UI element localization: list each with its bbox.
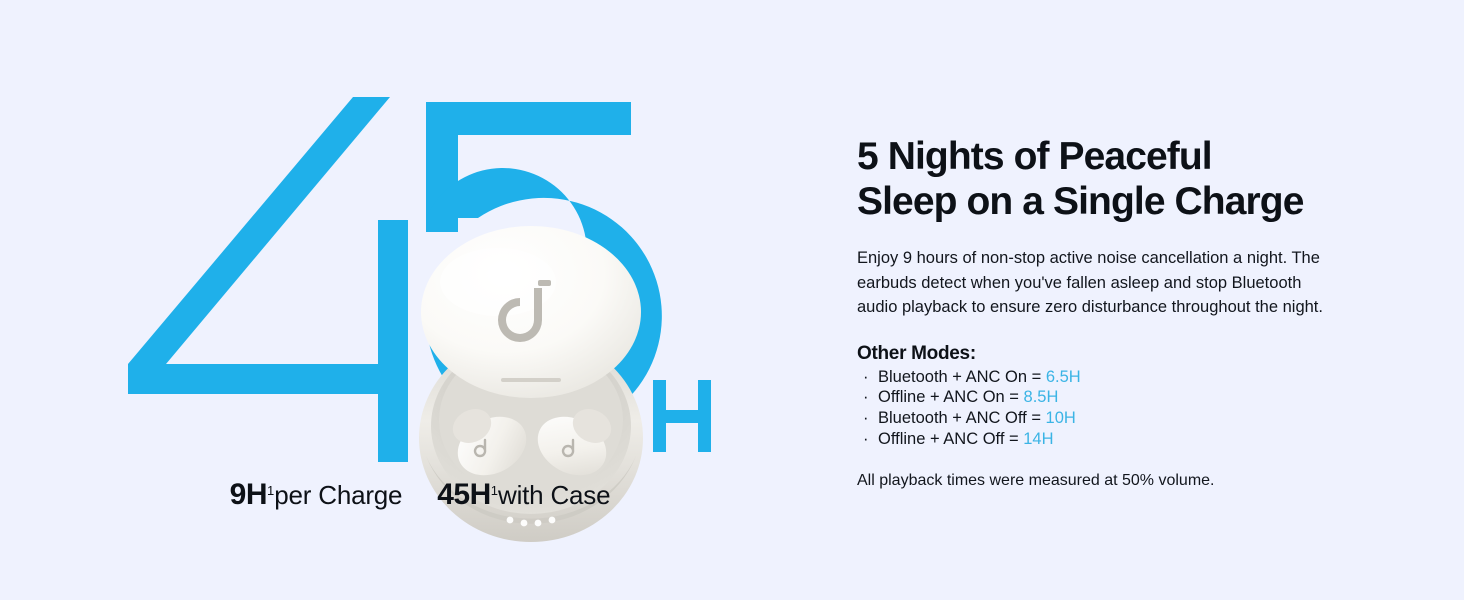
caption-per-charge-label: per Charge <box>274 480 402 510</box>
mode-value: 14H <box>1023 430 1053 448</box>
caption-with-case-superscript: 1 <box>491 483 498 498</box>
mode-label: Bluetooth + ANC Off = <box>878 409 1046 427</box>
headline-line-1: 5 Nights of Peaceful <box>857 134 1397 179</box>
caption-per-charge-value: 9H <box>230 478 267 511</box>
mode-label: Offline + ANC On = <box>878 388 1024 406</box>
visual-panel: 9H1per Charge 45H1with Case <box>0 0 840 600</box>
headline: 5 Nights of Peaceful Sleep on a Single C… <box>857 134 1397 224</box>
list-item: ·Offline + ANC On = 8.5H <box>857 387 1397 408</box>
bullet-icon: · <box>863 387 869 408</box>
mode-value: 8.5H <box>1024 388 1059 406</box>
product-feature-banner: 9H1per Charge 45H1with Case 5 Nights of … <box>0 0 1464 600</box>
caption-with-case-label: with Case <box>498 480 610 510</box>
mode-value: 10H <box>1046 409 1076 427</box>
mode-label: Offline + ANC Off = <box>878 430 1023 448</box>
other-modes-list: ·Bluetooth + ANC On = 6.5H ·Offline + AN… <box>857 367 1397 450</box>
bullet-icon: · <box>863 367 869 388</box>
bullet-icon: · <box>863 408 869 429</box>
mode-label: Bluetooth + ANC On = <box>878 368 1046 386</box>
list-item: ·Bluetooth + ANC On = 6.5H <box>857 367 1397 388</box>
headline-line-2: Sleep on a Single Charge <box>857 179 1397 224</box>
unit-h-icon <box>653 380 711 452</box>
caption-with-case-value: 45H <box>437 478 491 511</box>
big-number-graphic <box>108 92 728 462</box>
list-item: ·Offline + ANC Off = 14H <box>857 429 1397 450</box>
caption-per-charge-superscript: 1 <box>267 483 274 498</box>
bullet-icon: · <box>863 429 869 450</box>
other-modes-heading: Other Modes: <box>857 343 1397 365</box>
case-lid <box>421 226 641 398</box>
body-copy: Enjoy 9 hours of non-stop active noise c… <box>857 246 1327 318</box>
list-item: ·Bluetooth + ANC Off = 10H <box>857 408 1397 429</box>
mode-value: 6.5H <box>1046 368 1081 386</box>
footnote: All playback times were measured at 50% … <box>857 472 1397 490</box>
caption: 9H1per Charge 45H1with Case <box>0 478 840 512</box>
text-panel: 5 Nights of Peaceful Sleep on a Single C… <box>857 134 1397 490</box>
